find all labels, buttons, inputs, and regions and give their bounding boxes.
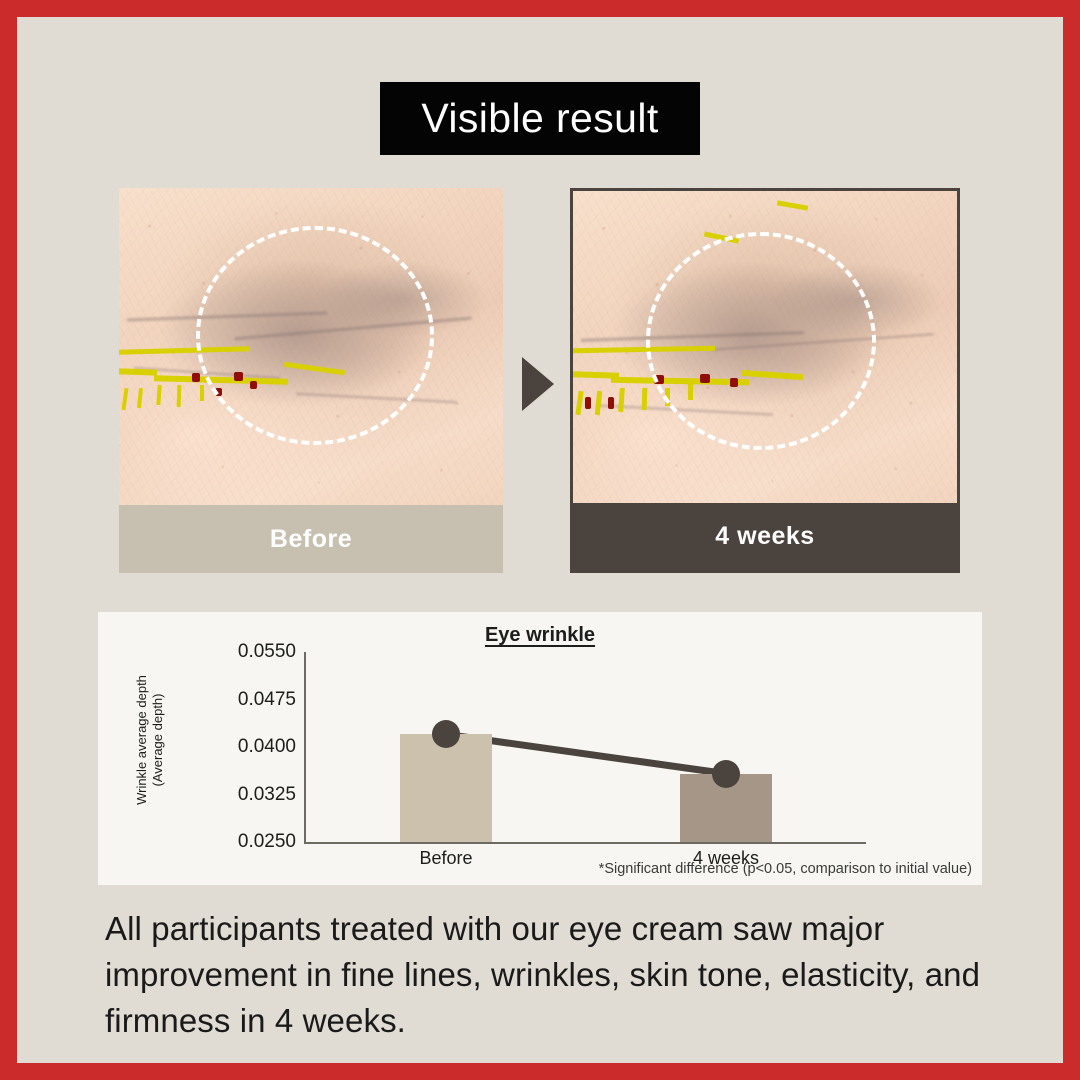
highlight-circle-icon	[196, 226, 434, 445]
wrinkle-trace-line	[176, 384, 181, 406]
y-axis-label-line1: Wrinkle average depth	[134, 660, 150, 820]
chart-data-point-marker	[712, 760, 740, 788]
deep-wrinkle-marker	[608, 397, 614, 409]
chart-footnote: *Significant difference (p<0.05, compari…	[599, 861, 972, 877]
before-skin-image	[119, 188, 503, 505]
y-axis-label-line2: (Average depth)	[150, 660, 166, 820]
wrinkle-trace-line	[642, 387, 648, 409]
before-caption: Before	[119, 505, 503, 573]
chart-y-tick-label: 0.0475	[216, 689, 296, 711]
chart-y-tick-label: 0.0325	[216, 784, 296, 806]
wrinkle-trace-line	[200, 385, 204, 401]
play-triangle-right-icon	[522, 357, 554, 411]
chart-y-tick-label: 0.0550	[216, 641, 296, 663]
before-photo-card: Before	[119, 188, 503, 573]
after-skin-image	[573, 191, 957, 503]
chart-plot-area: Before4 weeks	[304, 652, 866, 844]
chart-bar	[400, 734, 492, 842]
poster-frame: Visible result	[0, 0, 1080, 1080]
deep-wrinkle-marker	[192, 373, 200, 382]
chart-y-tick-label: 0.0400	[216, 736, 296, 758]
chart-x-tick-label: Before	[419, 848, 472, 869]
chart-y-axis-label: Wrinkle average depth (Average depth)	[134, 660, 174, 820]
wrinkle-trace-line	[119, 368, 157, 375]
poster-canvas: Visible result	[17, 17, 1063, 1063]
chart-data-point-marker	[432, 720, 460, 748]
chart-y-ticks: 0.05500.04750.04000.03250.0250	[216, 652, 296, 842]
chart-y-tick-label: 0.0250	[216, 831, 296, 853]
chart-panel: Eye wrinkle Wrinkle average depth (Avera…	[98, 612, 982, 885]
highlight-circle-icon	[646, 232, 876, 450]
title-banner: Visible result	[380, 82, 700, 155]
page-title: Visible result	[421, 95, 658, 142]
chart-trend-line	[306, 652, 866, 842]
summary-paragraph: All participants treated with our eye cr…	[105, 906, 985, 1044]
after-caption: 4 weeks	[573, 503, 957, 570]
deep-wrinkle-marker	[585, 397, 591, 409]
after-photo-card: 4 weeks	[570, 188, 960, 573]
